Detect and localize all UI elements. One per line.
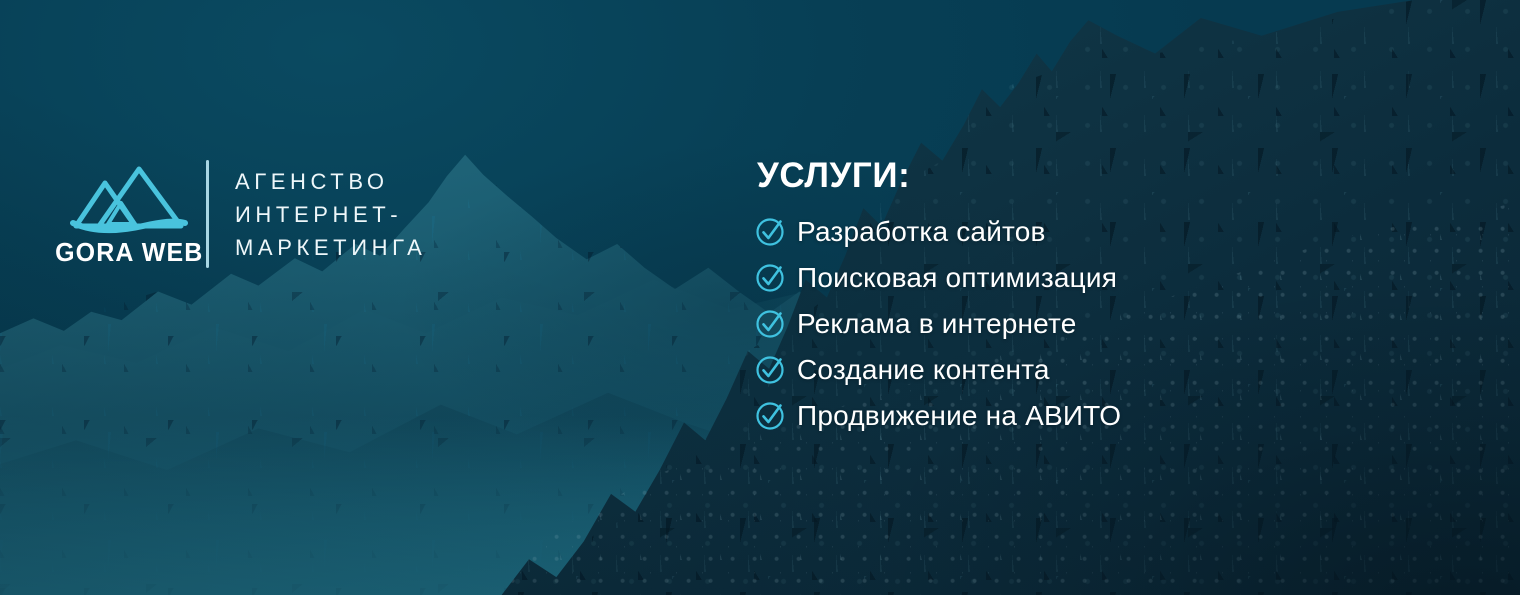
banner-content: GORA WEB АГЕНСТВО ИНТЕРНЕТ- МАРКЕТИНГА У… <box>0 0 1520 595</box>
service-item[interactable]: Создание контента <box>755 347 1275 393</box>
logo-divider <box>206 160 209 268</box>
logo-lockup: GORA WEB <box>60 163 198 265</box>
services-list: Разработка сайтов Поисковая оптимизация <box>755 209 1275 439</box>
service-item[interactable]: Реклама в интернете <box>755 301 1275 347</box>
service-label: Реклама в интернете <box>797 308 1077 340</box>
mountain-peaks-icon <box>69 163 189 235</box>
tagline-line-3: МАРКЕТИНГА <box>235 231 426 264</box>
service-label: Разработка сайтов <box>797 216 1046 248</box>
check-circle-icon <box>755 355 797 385</box>
check-circle-icon <box>755 309 797 339</box>
tagline-line-2: ИНТЕРНЕТ- <box>235 198 426 231</box>
check-circle-icon <box>755 401 797 431</box>
check-circle-icon <box>755 263 797 293</box>
service-label: Создание контента <box>797 354 1050 386</box>
service-item[interactable]: Поисковая оптимизация <box>755 255 1275 301</box>
service-label: Продвижение на АВИТО <box>797 400 1121 432</box>
check-circle-icon <box>755 217 797 247</box>
tagline-line-1: АГЕНСТВО <box>235 165 426 198</box>
services-title: УСЛУГИ: <box>757 158 1275 193</box>
service-item[interactable]: Продвижение на АВИТО <box>755 393 1275 439</box>
service-item[interactable]: Разработка сайтов <box>755 209 1275 255</box>
brand-logo[interactable]: GORA WEB АГЕНСТВО ИНТЕРНЕТ- МАРКЕТИНГА <box>60 160 426 268</box>
service-label: Поисковая оптимизация <box>797 262 1117 294</box>
brand-wordmark: GORA WEB <box>55 239 203 265</box>
services-block: УСЛУГИ: Разработка сайтов <box>755 158 1275 439</box>
hero-banner: GORA WEB АГЕНСТВО ИНТЕРНЕТ- МАРКЕТИНГА У… <box>0 0 1520 595</box>
brand-tagline: АГЕНСТВО ИНТЕРНЕТ- МАРКЕТИНГА <box>235 165 426 264</box>
